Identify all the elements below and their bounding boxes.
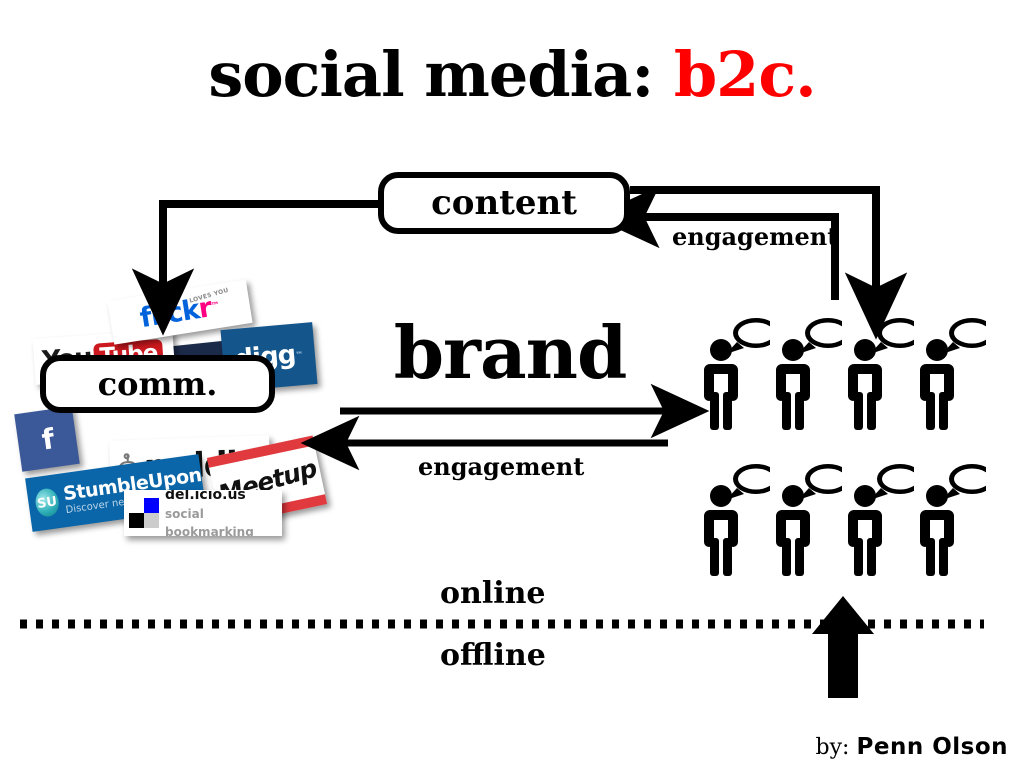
delicious-logo: del.icio.ussocial bookmarking — [124, 490, 282, 536]
consumer-crowd — [700, 312, 1000, 600]
diagram-canvas: social media: b2c. — [0, 0, 1024, 768]
person-icon — [776, 458, 842, 578]
person-icon — [848, 312, 914, 432]
person-icon — [704, 458, 770, 578]
node-comm[interactable]: comm. — [40, 355, 275, 413]
social-media-logos-collage: YouTube flickr™ LOVES YOU digg™ f reddit… — [18, 288, 318, 543]
node-comm-label: comm. — [98, 365, 218, 403]
person-icon — [920, 312, 986, 432]
node-content[interactable]: content — [378, 172, 630, 234]
node-content-label: content — [431, 183, 577, 223]
person-icon — [776, 312, 842, 432]
person-icon — [704, 312, 770, 432]
person-icon — [848, 458, 914, 578]
facebook-logo: f — [14, 406, 80, 472]
person-icon — [920, 458, 986, 578]
